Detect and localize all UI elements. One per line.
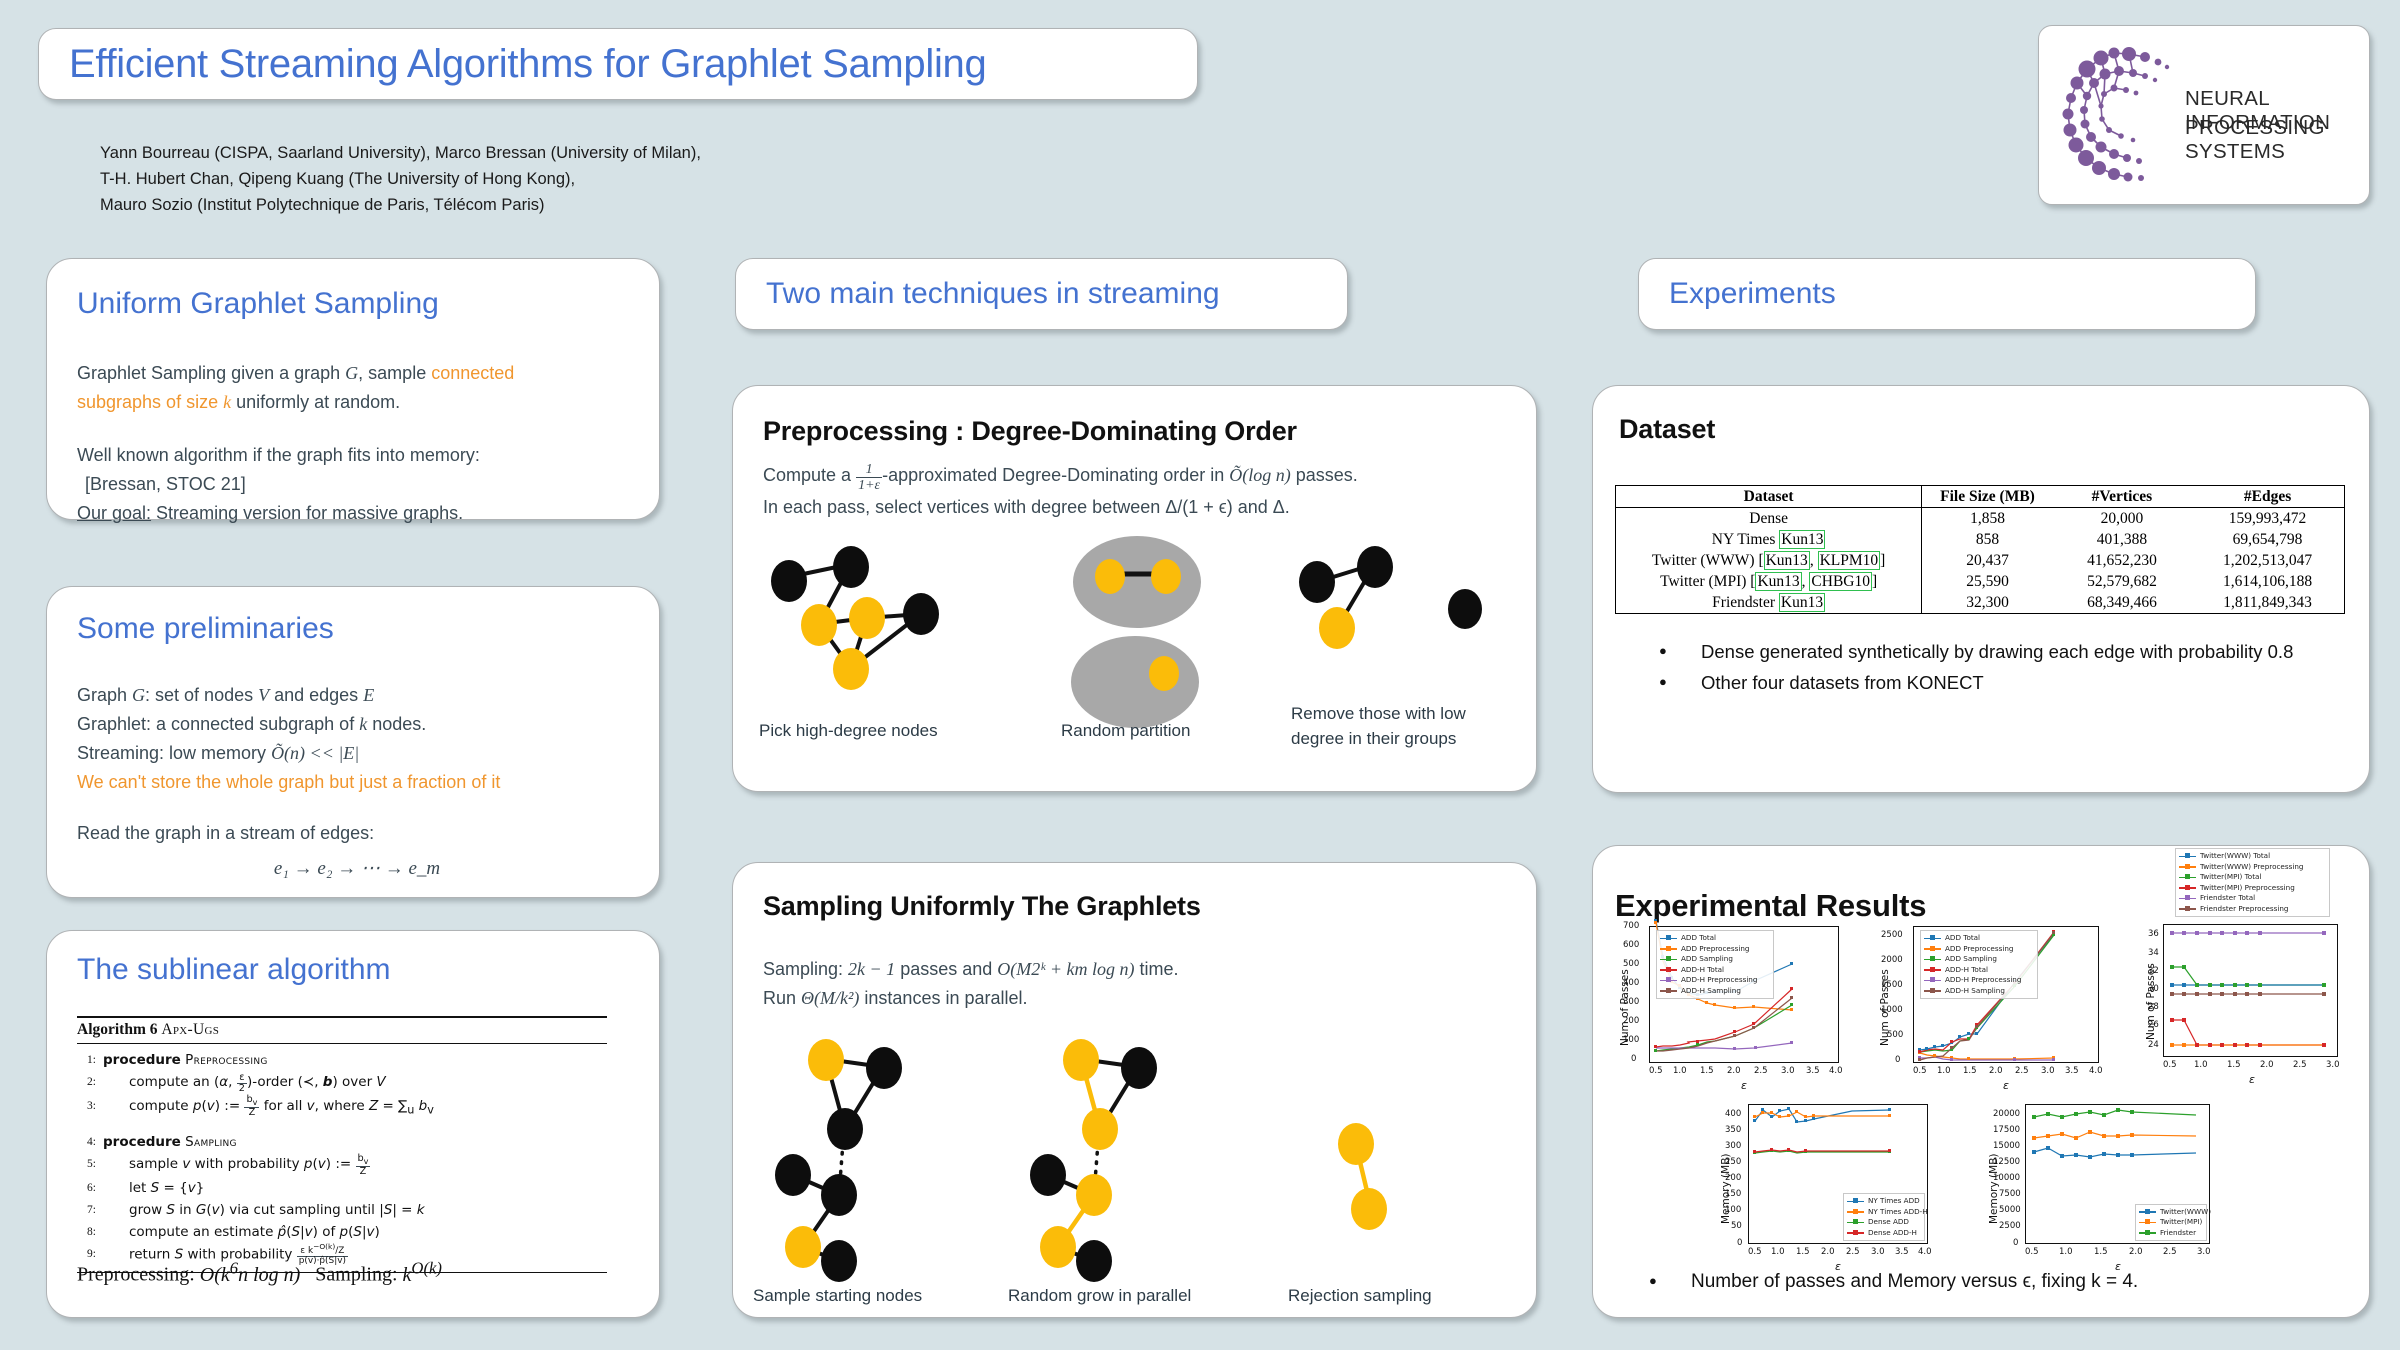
- y-tick: 24: [2148, 1040, 2159, 1050]
- graph-node: [1082, 1108, 1118, 1150]
- legend-item: Twitter(WWW) Preprocessing: [2179, 862, 2326, 873]
- y-tick: 300: [1725, 1141, 1741, 1151]
- y-tick: 20000: [1993, 1109, 2020, 1119]
- alg-line: 5:sample v with probability p(v) := bvZ: [77, 1153, 607, 1177]
- x-tick: 1.0: [1937, 1066, 1951, 1076]
- graph-node: [1040, 1226, 1076, 1268]
- x-tick: 0.5: [1913, 1066, 1927, 1076]
- x-tick: 1.5: [2227, 1060, 2241, 1070]
- table-row: Twitter (MPI) [Kun13, CHBG10] 25,590 52,…: [1616, 571, 2344, 592]
- table-row: Dense 1,858 20,000 159,993,472: [1616, 508, 2344, 530]
- preliminaries-body: Graph G: set of nodes V and edges E Grap…: [77, 681, 637, 883]
- chart-legend: NY Times ADD NY Times ADD-H Dense ADD De…: [1843, 1193, 1925, 1241]
- y-tick: 36: [2148, 929, 2159, 939]
- algorithm-box: Algorithm 6 Apx-Ugs 1:procedure Preproce…: [77, 1016, 607, 1273]
- author-line-1: Yann Bourreau (CISPA, Saarland Universit…: [100, 140, 701, 166]
- cell-size: 1,858: [1922, 508, 2053, 530]
- x-tick: 3.0: [2041, 1066, 2055, 1076]
- x-tick: 1.5: [1796, 1247, 1810, 1257]
- chart-legend: ADD Total ADD Preprocessing ADD Sampling…: [1920, 930, 2038, 999]
- neurips-logo-card: NEURAL INFORMATION PROCESSING SYSTEMS: [2038, 25, 2370, 205]
- x-tick: 0.5: [1649, 1066, 1663, 1076]
- legend-item: Friendster Preprocessing: [2179, 904, 2326, 915]
- y-tick: 15000: [1993, 1141, 2020, 1151]
- x-tick: 1.5: [1700, 1066, 1714, 1076]
- diagram-pick-high-degree: Pick high-degree nodes: [761, 546, 981, 716]
- legend-item: ADD Total: [1660, 933, 1770, 944]
- graph-node: [833, 648, 869, 690]
- panel-preprocessing: Preprocessing : Degree-Dominating Order …: [732, 385, 1537, 792]
- x-tick: 4.0: [1918, 1247, 1932, 1257]
- y-tick: 600: [1623, 940, 1639, 950]
- cell-edges: 1,202,513,047: [2191, 550, 2344, 571]
- legend-item: Friendster: [2139, 1228, 2203, 1239]
- graph-node: [1149, 656, 1179, 691]
- chart-legend: Twitter(WWW) Total Twitter(WWW) Preproce…: [2175, 848, 2330, 917]
- sampling-body: Sampling: 2k − 1 passes and O(M2ᵏ + km l…: [763, 955, 1523, 1013]
- table-row: NY Times Kun13 858 401,388 69,654,798: [1616, 529, 2344, 550]
- uniform-body: Graphlet Sampling given a graph G, sampl…: [77, 359, 633, 528]
- two-techniques-heading: Two main techniques in streaming: [766, 277, 1220, 311]
- y-tick: 0: [1895, 1055, 1900, 1065]
- cell-edges: 69,654,798: [2191, 529, 2344, 550]
- x-tick: 3.0: [2326, 1060, 2340, 1070]
- legend-item: NY Times ADD: [1847, 1196, 1921, 1207]
- alg-line: 3:compute p(v) := bvZ for all v, where Z…: [77, 1095, 607, 1122]
- cell-name: Twitter (WWW) [Kun13, KLPM10]: [1616, 550, 1922, 571]
- x-tick: 2.0: [1727, 1066, 1741, 1076]
- x-tick: 2.0: [2129, 1247, 2143, 1257]
- x-tick: 3.0: [1871, 1247, 1885, 1257]
- graph-node: [821, 1240, 857, 1282]
- graph-node: [833, 546, 869, 588]
- y-tick: 400: [1725, 1109, 1741, 1119]
- legend-item: ADD-H Preprocessing: [1660, 975, 1770, 986]
- legend-item: ADD Total: [1924, 933, 2034, 944]
- graph-node: [771, 560, 807, 602]
- x-axis-label: ε: [2249, 1073, 2255, 1086]
- alg-line: 2:compute an (α, ε2)-order (≺, b) over V: [77, 1071, 607, 1095]
- y-axis-label: Memory (MB): [1988, 1154, 2000, 1225]
- plot-area: ADD Total ADD Preprocessing ADD Sampling…: [1913, 926, 2099, 1063]
- x-tick: 2.5: [2293, 1060, 2307, 1070]
- graph-node: [821, 1174, 857, 1216]
- x-tick: 0.5: [1748, 1247, 1762, 1257]
- chart-legend: ADD Total ADD Preprocessing ADD Sampling…: [1656, 930, 1774, 999]
- diagram-rejection-sampling: Rejection sampling: [1293, 1033, 1513, 1283]
- x-tick: 1.0: [2194, 1060, 2208, 1070]
- col-edges: #Edges: [2191, 486, 2344, 508]
- dataset-table: Dataset File Size (MB) #Vertices #Edges …: [1616, 486, 2344, 613]
- legend-item: Twitter(MPI) Total: [2179, 872, 2326, 883]
- x-tick: 3.0: [1781, 1066, 1795, 1076]
- preprocessing-body: Compute a 11+ε-approximated Degree-Domin…: [763, 461, 1523, 522]
- legend-item: Twitter(WWW) Total: [2179, 851, 2326, 862]
- legend-item: ADD Preprocessing: [1924, 944, 2034, 955]
- graph-node: [827, 1108, 863, 1150]
- cell-vertices: 68,349,466: [2053, 592, 2191, 613]
- panel-sublinear-algorithm: The sublinear algorithm Algorithm 6 Apx-…: [46, 930, 660, 1318]
- x-tick: 1.5: [2094, 1247, 2108, 1257]
- y-tick: 700: [1623, 921, 1639, 931]
- diagram-remove-low-degree: Remove those with low degree in their gr…: [1293, 546, 1513, 716]
- dataset-heading: Dataset: [1619, 414, 1715, 445]
- alg-line: 7:grow S in G(v) via cut sampling until …: [77, 1199, 607, 1221]
- results-caption-bullet: Number of passes and Memory versus ϵ, fi…: [1627, 1266, 2357, 1297]
- chart-passes-large: Twitter(WWW) Total Twitter(WWW) Preproce…: [2113, 844, 2375, 1119]
- x-tick: 1.5: [1963, 1066, 1977, 1076]
- list-item: Dense generated synthetically by drawing…: [1637, 636, 2337, 667]
- x-tick: 1.0: [1771, 1247, 1785, 1257]
- cell-size: 25,590: [1922, 571, 2053, 592]
- graph-node: [1338, 1123, 1374, 1165]
- section-two-main-techniques: Two main techniques in streaming: [735, 258, 1348, 330]
- legend-item: NY Times ADD-H: [1847, 1207, 1921, 1218]
- table-header-row: Dataset File Size (MB) #Vertices #Edges: [1616, 486, 2344, 508]
- x-tick: 2.0: [2260, 1060, 2274, 1070]
- legend-item: Dense ADD: [1847, 1217, 1921, 1228]
- alg-line: 1:procedure Preprocessing: [77, 1049, 607, 1071]
- legend-item: ADD Preprocessing: [1660, 944, 1770, 955]
- panel-some-preliminaries: Some preliminaries Graph G: set of nodes…: [46, 586, 660, 898]
- col-filesize: File Size (MB): [1922, 486, 2053, 508]
- section-experiments: Experiments: [1638, 258, 2256, 330]
- dataset-bullets: Dense generated synthetically by drawing…: [1637, 636, 2337, 698]
- legend-item: Twitter(WWW): [2139, 1207, 2203, 1218]
- page-title: Efficient Streaming Algorithms for Graph…: [69, 42, 986, 87]
- graph-node: [775, 1154, 811, 1196]
- y-axis-label: Memory (MB): [1720, 1154, 1732, 1225]
- stream-formula: e₁ → e₂ → ⋯ → e_m: [77, 848, 637, 883]
- y-tick: 500: [1623, 959, 1639, 969]
- graph-node: [801, 604, 837, 646]
- legend-item: ADD-H Total: [1660, 965, 1770, 976]
- y-axis-label: Num of Passes: [1879, 969, 1891, 1046]
- alg-line: 8:compute an estimate p̂(S|v) of p(S|v): [77, 1221, 607, 1243]
- alg-line: 4:procedure Sampling: [77, 1131, 607, 1153]
- author-line-2: T-H. Hubert Chan, Qipeng Kuang (The Univ…: [100, 166, 701, 192]
- graph-node: [1299, 561, 1335, 603]
- cell-size: 32,300: [1922, 592, 2053, 613]
- x-tick: 3.0: [2197, 1247, 2211, 1257]
- diagram-random-grow: Random grow in parallel: [1018, 1033, 1248, 1283]
- legend-item: ADD-H Sampling: [1924, 986, 2034, 997]
- x-tick: 1.0: [1673, 1066, 1687, 1076]
- y-tick: 7500: [1999, 1189, 2021, 1199]
- graph-node: [785, 1226, 821, 1268]
- x-axis-label: ε: [1741, 1079, 1747, 1092]
- graph-node: [866, 1047, 902, 1089]
- diagram-caption: Pick high-degree nodes: [759, 718, 938, 743]
- poster-title-card: Efficient Streaming Algorithms for Graph…: [38, 28, 1198, 100]
- x-tick: 3.5: [1806, 1066, 1820, 1076]
- diagram-caption: Random partition: [1061, 718, 1190, 743]
- graph-node: [1095, 559, 1125, 594]
- author-line-3: Mauro Sozio (Institut Polytechnique de P…: [100, 192, 701, 218]
- x-tick: 2.5: [2015, 1066, 2029, 1076]
- cell-name: Twitter (MPI) [Kun13, CHBG10]: [1616, 571, 1922, 592]
- legend-item: Twitter(MPI) Preprocessing: [2179, 883, 2326, 894]
- chart-passes-nytimes: ADD Total ADD Preprocessing ADD Sampling…: [1861, 918, 2116, 1118]
- algorithm-title: Algorithm 6 Apx-Ugs: [77, 1018, 607, 1043]
- graph-node: [1448, 589, 1482, 629]
- x-tick: 2.0: [1821, 1247, 1835, 1257]
- panel-uniform-graphlet-sampling: Uniform Graphlet Sampling Graphlet Sampl…: [46, 258, 660, 520]
- x-tick: 0.5: [2163, 1060, 2177, 1070]
- graph-node: [903, 593, 939, 635]
- col-dataset: Dataset: [1616, 486, 1922, 508]
- y-tick: 2000: [1881, 955, 1903, 965]
- diagram-random-partition: Random partition: [1063, 536, 1263, 736]
- graph-node: [1357, 546, 1393, 588]
- graph-node: [1076, 1240, 1112, 1282]
- y-tick: 17500: [1993, 1125, 2020, 1135]
- x-tick: 1.0: [2059, 1247, 2073, 1257]
- complexity-line: Preprocessing: O(k6n log n) Sampling: kO…: [77, 1258, 442, 1287]
- cell-vertices: 401,388: [2053, 529, 2191, 550]
- y-axis-label: Num of Passes: [2145, 963, 2157, 1040]
- list-item: Number of passes and Memory versus ϵ, fi…: [1627, 1266, 2357, 1297]
- x-tick: 3.5: [1895, 1247, 1909, 1257]
- y-tick: 0: [1631, 1054, 1636, 1064]
- x-tick: 2.5: [1846, 1247, 1860, 1257]
- dataset-table-wrap: Dataset File Size (MB) #Vertices #Edges …: [1615, 485, 2345, 614]
- plot-area: ADD Total ADD Preprocessing ADD Sampling…: [1649, 926, 1839, 1063]
- cell-size: 20,437: [1922, 550, 2053, 571]
- graph-node: [1151, 559, 1181, 594]
- diagram-sample-starting-nodes: Sample starting nodes: [763, 1033, 993, 1283]
- graph-node: [1030, 1154, 1066, 1196]
- cell-name: NY Times Kun13: [1616, 529, 1922, 550]
- y-tick: 0: [1737, 1238, 1742, 1248]
- x-axis-label: ε: [2003, 1079, 2009, 1092]
- y-tick: 5000: [1999, 1205, 2021, 1215]
- x-tick: 3.5: [2065, 1066, 2079, 1076]
- legend-item: ADD Sampling: [1660, 954, 1770, 965]
- y-tick: 34: [2148, 948, 2159, 958]
- chart-legend: Twitter(WWW) Twitter(MPI) Friendster: [2135, 1204, 2207, 1242]
- x-tick: 2.5: [2163, 1247, 2177, 1257]
- dataset-table-body: Dense 1,858 20,000 159,993,472 NY Times …: [1616, 508, 2344, 614]
- legend-item: Dense ADD-H: [1847, 1228, 1921, 1239]
- y-tick: 2500: [1999, 1221, 2021, 1231]
- diagram-caption: Random grow in parallel: [1008, 1283, 1191, 1308]
- panel-dataset: Dataset Dataset File Size (MB) #Vertices…: [1592, 385, 2370, 793]
- graph-node: [808, 1039, 844, 1081]
- cell-size: 858: [1922, 529, 2053, 550]
- cell-vertices: 20,000: [2053, 508, 2191, 530]
- y-tick: 2500: [1881, 930, 1903, 940]
- preliminaries-heading: Some preliminaries: [77, 612, 334, 646]
- x-tick: 4.0: [2089, 1066, 2103, 1076]
- partition-circle: [1071, 636, 1199, 728]
- y-tick: 0: [2013, 1238, 2018, 1248]
- cell-vertices: 52,579,682: [2053, 571, 2191, 592]
- author-list: Yann Bourreau (CISPA, Saarland Universit…: [100, 140, 701, 218]
- cell-vertices: 41,652,230: [2053, 550, 2191, 571]
- x-tick: 2.5: [1754, 1066, 1768, 1076]
- table-row: Twitter (WWW) [Kun13, KLPM10] 20,437 41,…: [1616, 550, 2344, 571]
- cell-edges: 159,993,472: [2191, 508, 2344, 530]
- graph-node: [1063, 1039, 1099, 1081]
- y-axis-label: Num of Passes: [1619, 969, 1631, 1046]
- y-tick: 350: [1725, 1125, 1741, 1135]
- legend-item: ADD-H Preprocessing: [1924, 975, 2034, 986]
- panel-sampling-graphlets: Sampling Uniformly The Graphlets Samplin…: [732, 862, 1537, 1318]
- legend-item: Twitter(MPI): [2139, 1217, 2203, 1228]
- legend-item: Friendster Total: [2179, 893, 2326, 904]
- diagram-caption: Sample starting nodes: [753, 1283, 922, 1308]
- graph-node: [1121, 1047, 1157, 1089]
- graph-node: [849, 597, 885, 639]
- preprocessing-heading: Preprocessing : Degree-Dominating Order: [763, 416, 1297, 447]
- graph-node: [1076, 1174, 1112, 1216]
- panel-experimental-results: Experimental Results ADD Total ADD Prepr…: [1592, 845, 2370, 1318]
- legend-item: ADD-H Sampling: [1660, 986, 1770, 997]
- legend-item: ADD-H Total: [1924, 965, 2034, 976]
- plot-area: Twitter(WWW) Twitter(MPI) Friendster: [2025, 1104, 2210, 1244]
- sampling-heading: Sampling Uniformly The Graphlets: [763, 891, 1201, 922]
- sublinear-heading: The sublinear algorithm: [77, 953, 391, 987]
- graph-node: [1351, 1188, 1387, 1230]
- uniform-heading: Uniform Graphlet Sampling: [77, 287, 439, 321]
- diagram-caption: Rejection sampling: [1288, 1283, 1432, 1308]
- cell-edges: 1,811,849,343: [2191, 592, 2344, 613]
- experiments-heading: Experiments: [1669, 277, 1836, 311]
- cell-name: Dense: [1616, 508, 1922, 530]
- plot-area: NY Times ADD NY Times ADD-H Dense ADD De…: [1748, 1104, 1928, 1244]
- diagram-caption: Remove those with low degree in their gr…: [1291, 701, 1466, 751]
- table-row: Friendster Kun13 32,300 68,349,466 1,811…: [1616, 592, 2344, 613]
- cell-name: Friendster Kun13: [1616, 592, 1922, 613]
- graph-node: [1319, 607, 1355, 649]
- x-tick: 4.0: [1829, 1066, 1843, 1076]
- neurips-swirl-icon: [2057, 40, 2177, 190]
- col-vertices: #Vertices: [2053, 486, 2191, 508]
- list-item: Other four datasets from KONECT: [1637, 667, 2337, 698]
- chart-passes-dense: ADD Total ADD Preprocessing ADD Sampling…: [1601, 918, 1856, 1118]
- logo-text-line-2: PROCESSING SYSTEMS: [2185, 116, 2369, 164]
- plot-area: [2163, 924, 2338, 1057]
- y-tick: 50: [1731, 1221, 1742, 1231]
- legend-item: ADD Sampling: [1924, 954, 2034, 965]
- x-tick: 2.0: [1989, 1066, 2003, 1076]
- alg-line: 6:let S = {v}: [77, 1177, 607, 1199]
- x-tick: 0.5: [2025, 1247, 2039, 1257]
- cell-edges: 1,614,106,188: [2191, 571, 2344, 592]
